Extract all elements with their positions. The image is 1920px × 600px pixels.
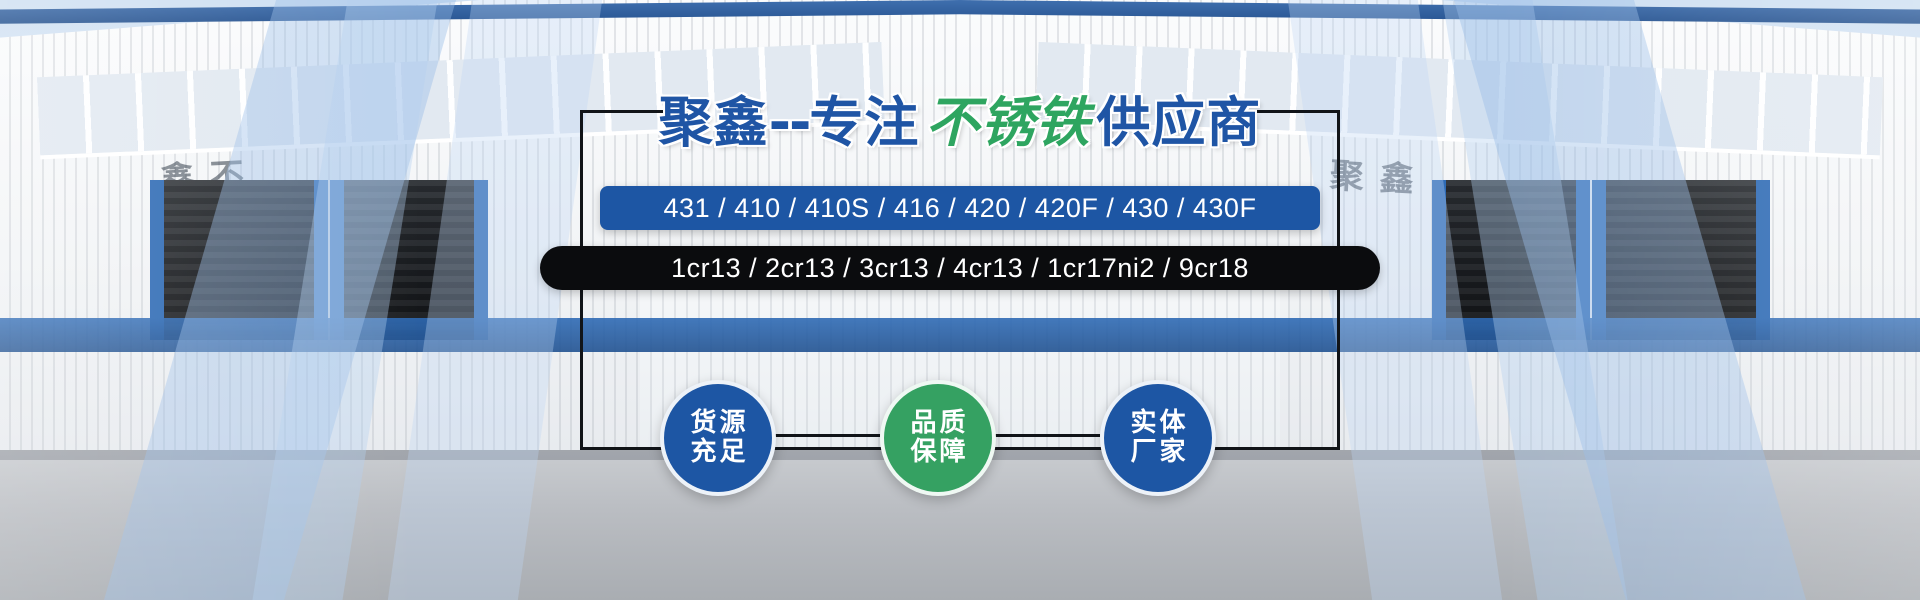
headline-brand: 聚鑫 (659, 91, 769, 154)
feature-badge-factory: 实体 厂家 (1100, 380, 1216, 496)
headline-focus: 专注 (809, 91, 919, 154)
headline-highlight: 不锈铁 (919, 91, 1096, 154)
badge-line-1: 品质 (907, 409, 968, 438)
feature-badge-supply: 货源 充足 (660, 380, 776, 496)
badge-line-2: 保障 (907, 438, 968, 467)
feature-badge-quality: 品质 保障 (880, 380, 996, 496)
banner-content: 聚鑫--专注不锈铁供应商 431 / 410 / 410S / 416 / 42… (0, 0, 1920, 600)
badge-line-1: 实体 (1127, 409, 1188, 438)
badge-connector-line (768, 434, 880, 437)
steel-grades-blue-bar: 431 / 410 / 410S / 416 / 420 / 420F / 43… (600, 186, 1320, 230)
badge-connector-line (988, 434, 1100, 437)
headline-dashes: -- (769, 91, 810, 154)
hero-banner: 鑫 不 聚 鑫 聚鑫--专注不锈铁供应商 431 / 410 (0, 0, 1920, 600)
badge-line-2: 厂家 (1127, 438, 1188, 467)
badge-line-2: 充足 (687, 438, 748, 467)
badge-line-1: 货源 (687, 409, 748, 438)
headline-supplier: 供应商 (1096, 91, 1261, 154)
banner-headline: 聚鑫--专注不锈铁供应商 (0, 78, 1920, 157)
steel-grades-black-bar: 1cr13 / 2cr13 / 3cr13 / 4cr13 / 1cr17ni2… (540, 246, 1380, 290)
